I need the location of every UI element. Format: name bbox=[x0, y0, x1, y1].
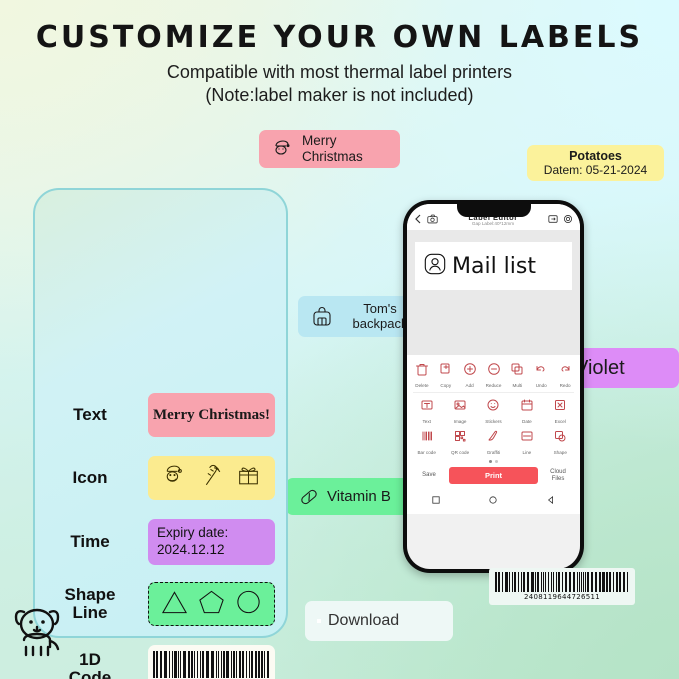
floating-label-text: Merry Christmas bbox=[302, 133, 388, 164]
phone-screen: Label Editor Gap Label:40*12mm bbox=[407, 204, 580, 569]
tool-label: Copy bbox=[440, 383, 451, 388]
toolbar-divider bbox=[413, 392, 574, 393]
shape-label-line1: Shape bbox=[64, 585, 115, 604]
floating-label-vitamin-b: Vitamin B bbox=[286, 478, 413, 515]
qr-code-icon bbox=[317, 619, 321, 623]
floating-label-download: Download bbox=[305, 601, 453, 641]
santa-icon bbox=[271, 137, 295, 161]
poster-canvas: CUSTOMIZE YOUR OWN LABELS Compatible wit… bbox=[0, 0, 679, 679]
circle-shape-icon bbox=[234, 588, 263, 621]
stickers-icon bbox=[486, 398, 500, 417]
barcode-icon bbox=[153, 651, 271, 678]
tool-shape[interactable]: Shape bbox=[547, 429, 573, 455]
square-icon[interactable] bbox=[432, 491, 440, 509]
bottom-barcode-label: 2408119644726511 bbox=[489, 568, 635, 605]
tool-stickers[interactable]: Stickers bbox=[480, 398, 506, 424]
tool-excel[interactable]: Excel bbox=[547, 398, 573, 424]
sample-text-value: Merry Christmas! bbox=[153, 407, 270, 424]
contact-avatar-icon bbox=[423, 252, 447, 281]
cloud-line2: Files bbox=[552, 476, 565, 482]
cloud-line1: Cloud bbox=[550, 469, 566, 475]
dog-icon bbox=[8, 600, 66, 662]
text-icon bbox=[420, 398, 434, 417]
smartphone-mockup: Label Editor Gap Label:40*12mm bbox=[403, 200, 584, 573]
tool-label: QR code bbox=[451, 450, 469, 455]
tool-delete[interactable]: Delete bbox=[410, 362, 434, 388]
tool-label: Reduce bbox=[486, 383, 502, 388]
tool-label: Image bbox=[454, 419, 467, 424]
backpack-icon bbox=[310, 305, 334, 329]
plus-circle-icon bbox=[463, 362, 477, 381]
pentagon-shape-icon bbox=[197, 588, 226, 621]
minus-circle-icon bbox=[487, 362, 501, 381]
toolbar-row-edit: DeleteCopyAddReduceMultiUndoRedo bbox=[407, 359, 580, 390]
qrcode-icon bbox=[453, 429, 467, 448]
tool-label: Bar code bbox=[417, 450, 435, 455]
feature-row-text: Text Merry Christmas! bbox=[35, 393, 286, 437]
tool-label: Shape bbox=[554, 450, 567, 455]
potatoes-date: Datem: 05-21-2024 bbox=[544, 164, 647, 178]
feature-label-icon: Icon bbox=[35, 469, 145, 487]
toolbar-row-insert: TextImageStickersDateExcel bbox=[407, 395, 580, 426]
chevron-left-icon[interactable] bbox=[414, 211, 422, 229]
sample-label-time: Expiry date: 2024.12.12 bbox=[148, 519, 275, 565]
santa-icon bbox=[162, 462, 187, 494]
time-line1: Expiry date: bbox=[157, 525, 228, 542]
tool-redo[interactable]: Redo bbox=[553, 362, 577, 388]
action-bar: Save Print Cloud Files bbox=[407, 465, 580, 488]
phone-notch bbox=[457, 204, 531, 217]
circle-icon[interactable] bbox=[489, 491, 497, 509]
pen-icon bbox=[486, 429, 500, 448]
feature-label-time: Time bbox=[35, 533, 145, 551]
feature-row-shape-line: Shape Line bbox=[35, 582, 286, 626]
backpack-line2: backpack bbox=[353, 316, 408, 331]
backpack-line1: Tom's bbox=[363, 301, 397, 316]
capsule-icon bbox=[298, 486, 320, 508]
barcode-icon bbox=[420, 429, 434, 448]
cloud-files-button[interactable]: Cloud Files bbox=[545, 469, 571, 483]
toolbar-row-codes: Bar codeQR codeGraffitiLineShape bbox=[407, 426, 580, 457]
redo-icon bbox=[558, 362, 572, 381]
vitamin-text: Vitamin B bbox=[327, 488, 391, 505]
undo-icon bbox=[534, 362, 548, 381]
shape-icon bbox=[553, 429, 567, 448]
sample-label-icons bbox=[148, 456, 275, 500]
tool-graffiti[interactable]: Graffiti bbox=[480, 429, 506, 455]
trash-icon bbox=[415, 362, 429, 381]
excel-icon bbox=[553, 398, 567, 417]
onedee-label-line2: Code bbox=[69, 668, 112, 679]
tool-bar-code[interactable]: Bar code bbox=[414, 429, 440, 455]
tool-label: Add bbox=[466, 383, 474, 388]
page-title: CUSTOMIZE YOUR OWN LABELS bbox=[0, 20, 679, 55]
sample-label-shapes bbox=[148, 582, 275, 626]
multi-select-icon bbox=[510, 362, 524, 381]
potatoes-title: Potatoes bbox=[569, 149, 622, 163]
image-icon bbox=[453, 398, 467, 417]
label-preview[interactable]: Mail list bbox=[415, 242, 572, 290]
tool-text[interactable]: Text bbox=[414, 398, 440, 424]
shape-label-line2: Line bbox=[73, 603, 108, 622]
triangle-back-icon[interactable] bbox=[547, 491, 555, 509]
tool-label: Excel bbox=[555, 419, 566, 424]
tool-label: Redo bbox=[560, 383, 571, 388]
sample-label-text: Merry Christmas! bbox=[148, 393, 275, 437]
barcode-icon bbox=[495, 572, 630, 592]
date-icon bbox=[520, 398, 534, 417]
tool-label: Date bbox=[522, 419, 532, 424]
camera-icon[interactable] bbox=[427, 211, 438, 229]
tool-multi[interactable]: Multi bbox=[505, 362, 529, 388]
subtitle-note: (Note:label maker is not included) bbox=[0, 85, 679, 106]
label-canvas[interactable]: Mail list bbox=[407, 230, 580, 355]
onedee-label-line1: 1D bbox=[79, 650, 101, 669]
pager-dots bbox=[407, 457, 580, 465]
feature-row-time: Time Expiry date: 2024.12.12 bbox=[35, 519, 286, 565]
tool-label: Delete bbox=[415, 383, 428, 388]
rotate-icon[interactable] bbox=[548, 211, 558, 229]
bottom-barcode-number: 2408119644726511 bbox=[524, 593, 600, 601]
time-line2: 2024.12.12 bbox=[157, 542, 225, 559]
feature-list-panel: Text Merry Christmas! Icon Time bbox=[33, 188, 288, 638]
line-icon bbox=[520, 429, 534, 448]
tool-label: Undo bbox=[536, 383, 547, 388]
candy-cane-icon bbox=[199, 462, 224, 494]
tool-label: Graffiti bbox=[487, 450, 500, 455]
label-text-value: Mail list bbox=[452, 254, 536, 279]
floating-label-merry-christmas: Merry Christmas bbox=[259, 130, 400, 168]
copy-icon bbox=[439, 362, 453, 381]
tool-date[interactable]: Date bbox=[514, 398, 540, 424]
editor-toolbar: DeleteCopyAddReduceMultiUndoRedo TextIma… bbox=[407, 355, 580, 465]
floating-label-potatoes: Potatoes Datem: 05-21-2024 bbox=[527, 145, 664, 181]
sample-label-barcode: 2408119644726511 bbox=[148, 645, 275, 679]
tool-label: Line bbox=[523, 450, 532, 455]
feature-row-1d-code: 1D Code 2408119644726511 bbox=[35, 645, 286, 679]
tool-undo[interactable]: Undo bbox=[529, 362, 553, 388]
feature-label-text: Text bbox=[35, 406, 145, 424]
save-button[interactable]: Save bbox=[416, 472, 442, 479]
gift-icon bbox=[236, 462, 261, 494]
tool-image[interactable]: Image bbox=[447, 398, 473, 424]
download-text: Download bbox=[328, 612, 399, 630]
tool-add[interactable]: Add bbox=[458, 362, 482, 388]
android-navbar bbox=[407, 488, 580, 514]
feature-row-icon: Icon bbox=[35, 456, 286, 500]
tool-label: Text bbox=[422, 419, 430, 424]
tool-line[interactable]: Line bbox=[514, 429, 540, 455]
tool-reduce[interactable]: Reduce bbox=[482, 362, 506, 388]
tool-label: Multi bbox=[513, 383, 523, 388]
triangle-shape-icon bbox=[160, 588, 189, 621]
print-button[interactable]: Print bbox=[449, 467, 538, 484]
tool-label: Stickers bbox=[485, 419, 501, 424]
tool-qr-code[interactable]: QR code bbox=[447, 429, 473, 455]
gear-icon[interactable] bbox=[563, 211, 573, 229]
subtitle-compatibility: Compatible with most thermal label print… bbox=[0, 62, 679, 83]
app-subtitle: Gap Label:40*12mm bbox=[443, 222, 543, 227]
tool-copy[interactable]: Copy bbox=[434, 362, 458, 388]
